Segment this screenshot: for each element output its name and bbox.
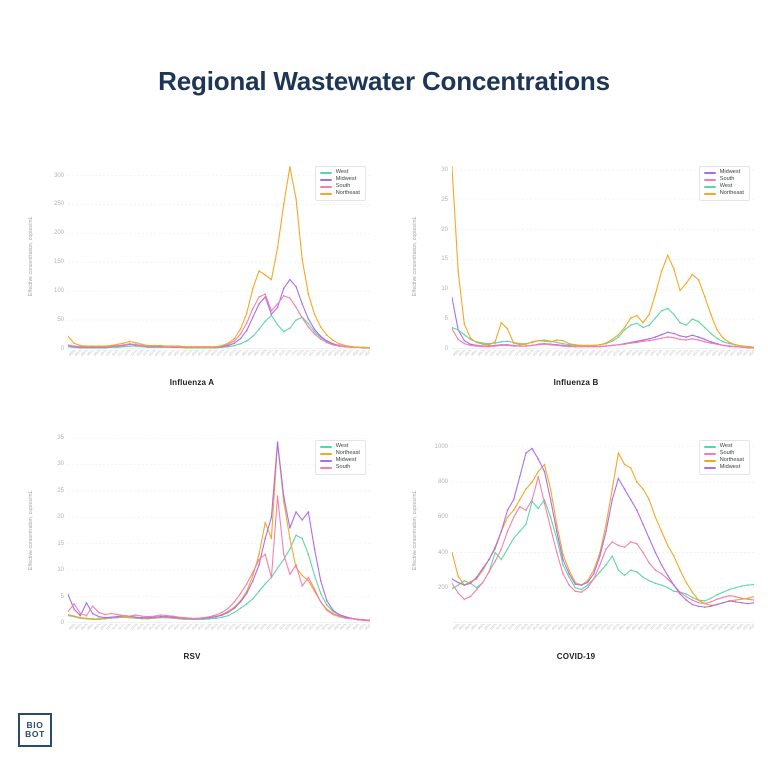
y-tick-label: 300: [54, 173, 64, 179]
series-line-midwest: [68, 280, 370, 348]
plot-area: Effective concentration, copies/mL050100…: [30, 164, 370, 349]
y-tick-label: 10: [57, 567, 64, 573]
legend-swatch-icon: [320, 467, 332, 469]
panel-caption: RSV: [0, 652, 384, 661]
chart-legend[interactable]: WestSouthNortheastMidwest: [699, 440, 750, 475]
y-tick-label: 50: [57, 317, 64, 323]
y-axis-ticks: 050100150200250300: [40, 164, 66, 349]
y-tick-label: 5: [61, 594, 64, 600]
legend-swatch-icon: [704, 460, 716, 462]
legend-item-midwest[interactable]: Midwest: [320, 177, 360, 183]
y-axis-label: Effective concentration, copies/mL: [408, 438, 422, 623]
legend-swatch-icon: [704, 179, 716, 181]
legend-item-south[interactable]: South: [704, 451, 744, 457]
legend-item-northeast[interactable]: Northeast: [704, 191, 744, 197]
y-tick-label: 30: [441, 167, 448, 173]
logo-line-2: BOT: [25, 730, 45, 739]
legend-swatch-icon: [704, 193, 716, 195]
series-line-south: [68, 496, 370, 621]
panel-caption: Influenza A: [0, 378, 384, 387]
legend-swatch-icon: [320, 453, 332, 455]
legend-label: South: [336, 184, 351, 190]
y-tick-label: 20: [441, 227, 448, 233]
legend-swatch-icon: [320, 172, 332, 174]
panel-caption: Influenza B: [384, 378, 768, 387]
legend-label: West: [720, 184, 733, 190]
legend-swatch-icon: [704, 186, 716, 188]
page-title: Regional Wastewater Concentrations: [0, 66, 768, 97]
legend-item-south[interactable]: South: [320, 465, 360, 471]
y-axis-label: Effective concentration, copies/mL: [408, 164, 422, 349]
plot-area: Effective concentration, copies/mL051015…: [30, 438, 370, 623]
legend-swatch-icon: [320, 193, 332, 195]
chart-panel-influenza-a: Effective concentration, copies/mL050100…: [0, 150, 384, 424]
y-tick-label: 200: [438, 585, 448, 591]
legend-label: Midwest: [336, 458, 357, 464]
legend-label: Midwest: [720, 465, 741, 471]
y-tick-label: 30: [57, 461, 64, 467]
legend-swatch-icon: [704, 172, 716, 174]
chart-legend[interactable]: MidwestSouthWestNortheast: [699, 166, 750, 201]
legend-item-west[interactable]: West: [320, 170, 360, 176]
series-line-northeast: [452, 453, 754, 605]
legend-item-south[interactable]: South: [320, 184, 360, 190]
y-tick-label: 800: [438, 479, 448, 485]
x-axis-ticks: 08/01/2108/15/2108/29/2109/12/2109/26/21…: [452, 350, 754, 380]
legend-swatch-icon: [320, 446, 332, 448]
legend-swatch-icon: [704, 446, 716, 448]
legend-item-west[interactable]: West: [320, 444, 360, 450]
chart-legend[interactable]: WestNortheastMidwestSouth: [315, 440, 366, 475]
biobot-logo: BIO BOT: [18, 713, 52, 747]
legend-swatch-icon: [704, 453, 716, 455]
y-tick-label: 400: [438, 550, 448, 556]
y-axis-label: Effective concentration, copies/mL: [24, 438, 38, 623]
chart-legend[interactable]: WestMidwestSouthNortheast: [315, 166, 366, 201]
legend-label: South: [720, 177, 735, 183]
y-tick-label: 25: [441, 197, 448, 203]
legend-label: South: [336, 465, 351, 471]
legend-label: Northeast: [336, 451, 360, 457]
chart-panel-influenza-b: Effective concentration, copies/mL051015…: [384, 150, 768, 424]
y-tick-label: 100: [54, 288, 64, 294]
y-tick-label: 1000: [435, 444, 448, 450]
legend-swatch-icon: [320, 179, 332, 181]
chart-panel-covid-19: Effective concentration, copies/mL200400…: [384, 424, 768, 698]
plot-area: Effective concentration, copies/mL051015…: [414, 164, 754, 349]
legend-item-northeast[interactable]: Northeast: [320, 451, 360, 457]
legend-label: Northeast: [720, 191, 744, 197]
legend-item-midwest[interactable]: Midwest: [704, 170, 744, 176]
y-tick-label: 0: [445, 346, 448, 352]
legend-label: West: [336, 170, 349, 176]
x-axis-ticks: 08/01/2108/15/2108/29/2109/12/2109/26/21…: [68, 350, 370, 380]
legend-item-northeast[interactable]: Northeast: [704, 458, 744, 464]
series-line-west: [452, 500, 754, 601]
y-axis-label: Effective concentration, copies/mL: [24, 164, 38, 349]
legend-label: West: [336, 444, 349, 450]
y-tick-label: 600: [438, 514, 448, 520]
legend-item-west[interactable]: West: [704, 444, 744, 450]
legend-item-south[interactable]: South: [704, 177, 744, 183]
chart-grid: Effective concentration, copies/mL050100…: [0, 150, 768, 698]
y-tick-label: 150: [54, 259, 64, 265]
y-tick-label: 20: [57, 514, 64, 520]
x-axis-ticks: 08/01/2108/15/2108/29/2109/12/2109/26/21…: [452, 624, 754, 654]
legend-swatch-icon: [320, 186, 332, 188]
legend-swatch-icon: [704, 467, 716, 469]
y-tick-label: 15: [57, 541, 64, 547]
y-axis-ticks: 05101520253035: [40, 438, 66, 623]
y-tick-label: 0: [61, 346, 64, 352]
legend-swatch-icon: [320, 460, 332, 462]
series-line-midwest: [452, 298, 754, 348]
legend-item-midwest[interactable]: Midwest: [320, 458, 360, 464]
y-tick-label: 200: [54, 230, 64, 236]
y-tick-label: 250: [54, 201, 64, 207]
legend-label: South: [720, 451, 735, 457]
legend-label: West: [720, 444, 733, 450]
x-axis-ticks: 08/01/2108/15/2108/29/2109/12/2109/26/21…: [68, 624, 370, 654]
y-tick-label: 10: [441, 286, 448, 292]
y-tick-label: 15: [441, 256, 448, 262]
y-axis-ticks: 2004006008001000: [424, 438, 450, 623]
panel-caption: COVID-19: [384, 652, 768, 661]
plot-area: Effective concentration, copies/mL200400…: [414, 438, 754, 623]
legend-label: Midwest: [336, 177, 357, 183]
chart-panel-rsv: Effective concentration, copies/mL051015…: [0, 424, 384, 698]
y-tick-label: 25: [57, 488, 64, 494]
y-tick-label: 35: [57, 435, 64, 441]
legend-item-west[interactable]: West: [704, 184, 744, 190]
legend-item-northeast[interactable]: Northeast: [320, 191, 360, 197]
legend-item-midwest[interactable]: Midwest: [704, 465, 744, 471]
y-axis-ticks: 051015202530: [424, 164, 450, 349]
legend-label: Northeast: [336, 191, 360, 197]
legend-label: Midwest: [720, 170, 741, 176]
y-tick-label: 5: [445, 316, 448, 322]
y-tick-label: 0: [61, 620, 64, 626]
legend-label: Northeast: [720, 458, 744, 464]
